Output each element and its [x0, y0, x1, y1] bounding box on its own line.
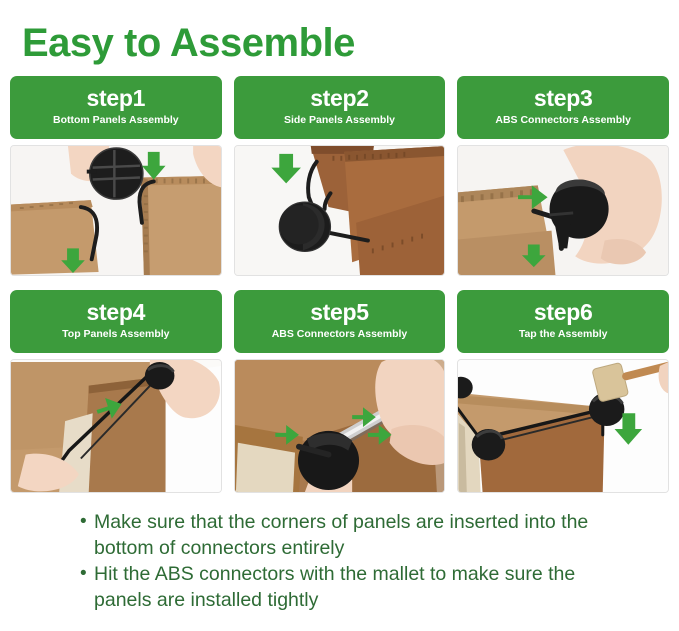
step-subtitle-1: Bottom Panels Assembly — [53, 115, 179, 127]
note-item-2: • Hit the ABS connectors with the mallet… — [80, 561, 619, 613]
assembly-notes: • Make sure that the corners of panels a… — [8, 509, 671, 613]
photo-step4-top-panels — [10, 359, 222, 493]
step4-illustration — [11, 360, 221, 492]
row-spacer — [8, 276, 671, 290]
photo-step6-tap-assembly — [457, 359, 669, 493]
note-text-1: Make sure that the corners of panels are… — [94, 509, 619, 561]
step-header-1: step1 Bottom Panels Assembly — [10, 76, 222, 139]
photo-step3-abs-connectors — [457, 145, 669, 276]
step-cell-1: step1 Bottom Panels Assembly — [10, 76, 222, 276]
step1-illustration — [11, 146, 221, 275]
step-header-4: step4 Top Panels Assembly — [10, 290, 222, 353]
step-header-2: step2 Side Panels Assembly — [234, 76, 446, 139]
step-number-5: step5 — [310, 300, 369, 325]
photo-step5-abs-connectors — [234, 359, 446, 493]
step-number-1: step1 — [87, 86, 146, 111]
step-header-6: step6 Tap the Assembly — [457, 290, 669, 353]
step2-illustration — [235, 146, 445, 275]
step-cell-4: step4 Top Panels Assembly — [10, 290, 222, 493]
photo-step2-side-panels — [234, 145, 446, 276]
step-cell-3: step3 ABS Connectors Assembly — [457, 76, 669, 276]
steps-row-2: step4 Top Panels Assembly — [8, 290, 671, 493]
step3-illustration — [458, 146, 668, 275]
step-number-3: step3 — [534, 86, 593, 111]
step-header-3: step3 ABS Connectors Assembly — [457, 76, 669, 139]
bullet-icon: • — [80, 561, 94, 587]
step-number-6: step6 — [534, 300, 593, 325]
step-cell-5: step5 ABS Connectors Assembly — [234, 290, 446, 493]
step-number-4: step4 — [87, 300, 146, 325]
step5-illustration — [235, 360, 445, 492]
page-title: Easy to Assemble — [8, 0, 671, 76]
note-text-2: Hit the ABS connectors with the mallet t… — [94, 561, 619, 613]
step-subtitle-5: ABS Connectors Assembly — [272, 329, 408, 341]
step-subtitle-4: Top Panels Assembly — [62, 329, 169, 341]
assembly-instructions-page: Easy to Assemble step1 Bottom Panels Ass… — [0, 0, 679, 631]
steps-row-1: step1 Bottom Panels Assembly — [8, 76, 671, 276]
step6-illustration — [458, 360, 668, 492]
step-subtitle-3: ABS Connectors Assembly — [495, 115, 631, 127]
photo-step1-bottom-panels — [10, 145, 222, 276]
step-subtitle-6: Tap the Assembly — [519, 329, 608, 341]
step-cell-6: step6 Tap the Assembly — [457, 290, 669, 493]
step-subtitle-2: Side Panels Assembly — [284, 115, 395, 127]
note-item-1: • Make sure that the corners of panels a… — [80, 509, 619, 561]
step-cell-2: step2 Side Panels Assembly — [234, 76, 446, 276]
step-number-2: step2 — [310, 86, 369, 111]
step-header-5: step5 ABS Connectors Assembly — [234, 290, 446, 353]
bullet-icon: • — [80, 509, 94, 535]
